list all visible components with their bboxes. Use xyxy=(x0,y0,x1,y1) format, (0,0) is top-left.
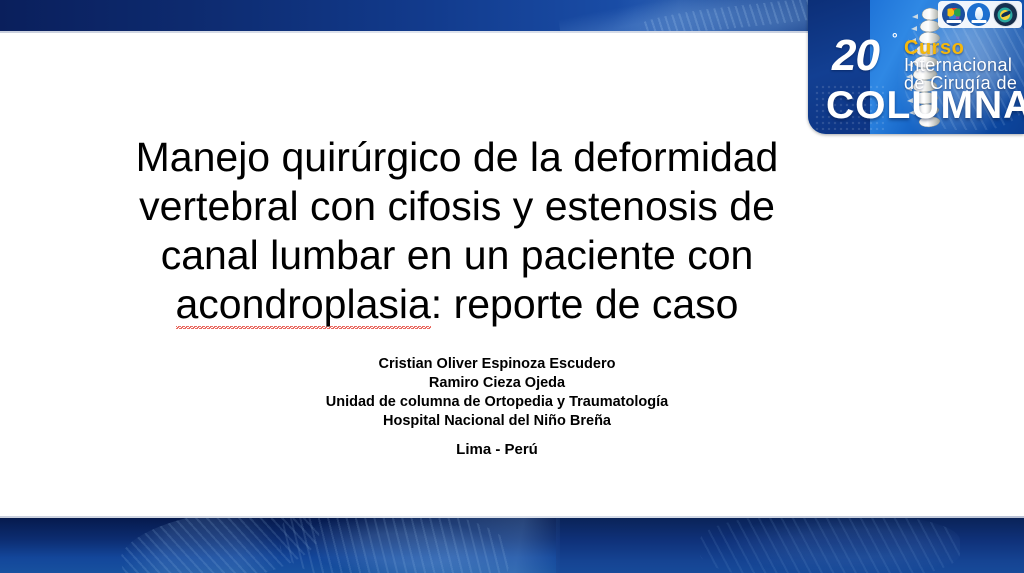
sccot-logo xyxy=(942,3,965,26)
edition-degree-symbol: ° xyxy=(892,30,898,46)
title-line-4: acondroplasia: reporte de caso xyxy=(62,280,852,329)
logo-columna-text: COLUMNA xyxy=(826,86,1024,126)
logo-internacional-text: Internacional xyxy=(904,56,1012,74)
edition-number: 20 xyxy=(832,34,879,78)
misspelled-word: acondroplasia xyxy=(176,281,431,329)
bottom-banner-watermark-2 xyxy=(276,518,513,573)
slide-title: Manejo quirúrgico de la deformidad verte… xyxy=(62,133,852,329)
title-line-4-rest: : reporte de caso xyxy=(431,281,739,327)
title-line-1: Manejo quirúrgico de la deformidad xyxy=(62,133,852,182)
author-name-1: Cristian Oliver Espinoza Escudero xyxy=(62,355,932,374)
affiliation-unit: Unidad de columna de Ortopedia y Traumat… xyxy=(62,393,932,412)
bottom-banner xyxy=(0,518,1024,573)
event-logo-box: 20 ° Curso Internacional de Cirugía de C… xyxy=(808,0,1024,134)
affiliation-hospital: Hospital Nacional del Niño Breña xyxy=(62,412,932,431)
third-society-logo xyxy=(993,2,1018,27)
author-name-2: Ramiro Cieza Ojeda xyxy=(62,374,932,393)
bottom-banner-watermark-3 xyxy=(700,518,960,573)
society-logos-strip xyxy=(938,1,1022,28)
socol-logo xyxy=(967,3,990,26)
title-line-2: vertebral con cifosis y estenosis de xyxy=(62,182,852,231)
presentation-slide: 20 ° Curso Internacional de Cirugía de C… xyxy=(0,0,1024,573)
title-line-3: canal lumbar en un paciente con xyxy=(62,231,852,280)
author-block: Cristian Oliver Espinoza Escudero Ramiro… xyxy=(62,355,932,431)
location-text: Lima - Perú xyxy=(62,441,932,458)
